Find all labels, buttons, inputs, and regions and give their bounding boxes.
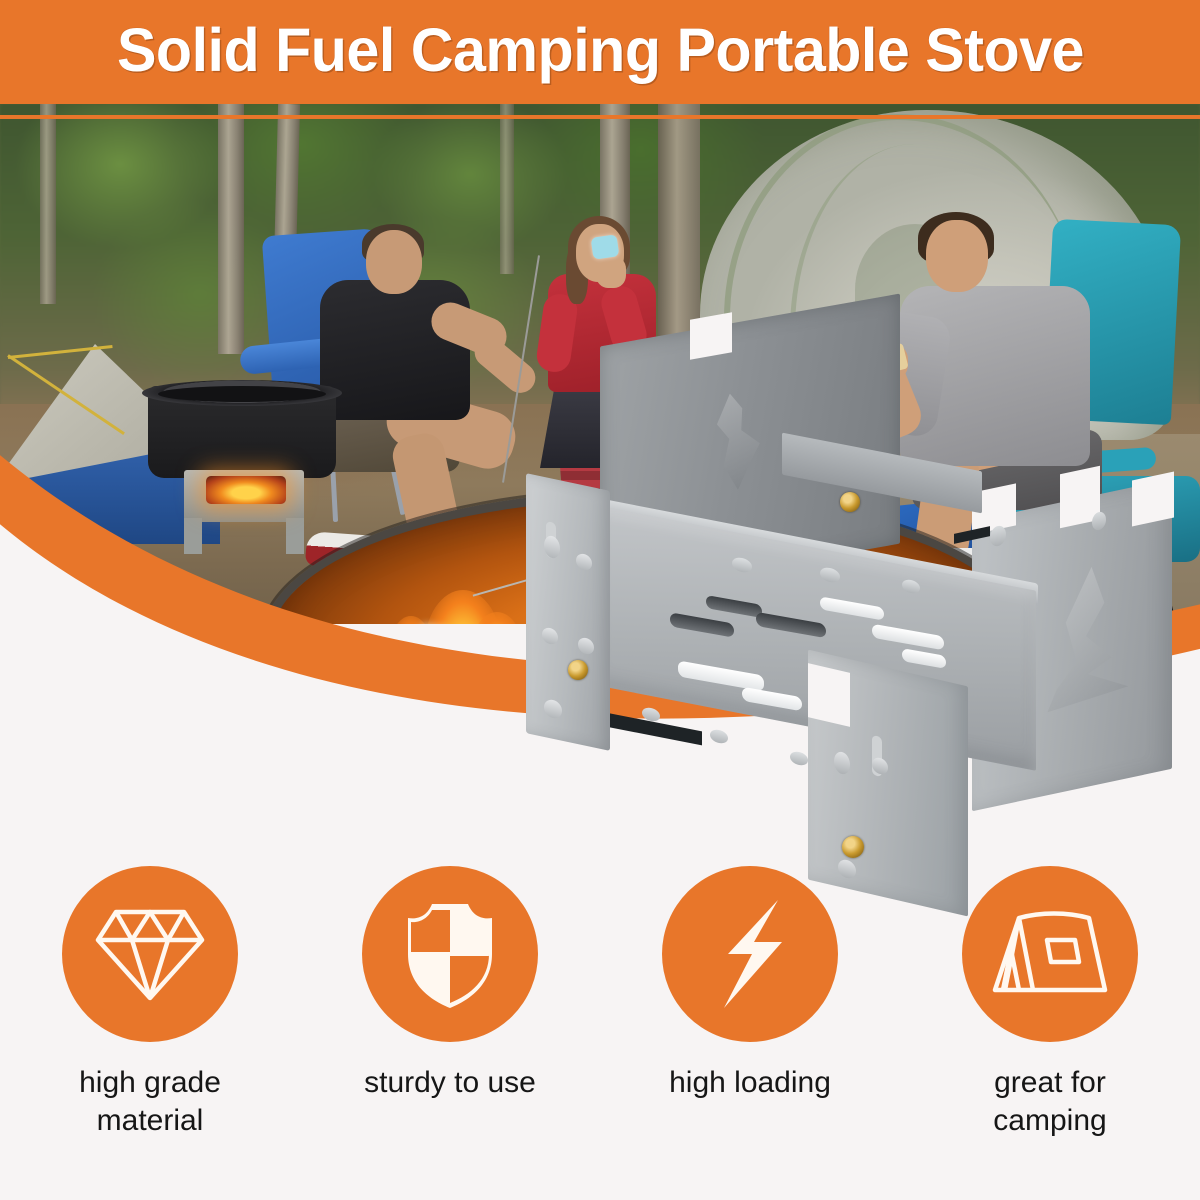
feature-label-line1: high grade	[79, 1066, 221, 1099]
header-banner: Solid Fuel Camping Portable Stove	[0, 0, 1200, 104]
feature-item-great-for-camping: great for camping	[900, 866, 1200, 1200]
feature-label: high grade material	[79, 1064, 221, 1141]
feature-label: great for camping	[993, 1064, 1106, 1141]
feature-label-line2: camping	[993, 1104, 1106, 1137]
stove-front-wall-notch	[808, 663, 850, 727]
stove-rivet-bump	[710, 728, 728, 744]
feature-label-line1: sturdy to use	[364, 1066, 536, 1099]
tree-trunk	[218, 104, 244, 354]
feature-item-high-loading: high loading	[600, 866, 900, 1200]
feature-icon-circle	[62, 866, 238, 1042]
product-stove-image	[520, 300, 1200, 900]
feature-icon-circle	[962, 866, 1138, 1042]
tent-icon	[989, 906, 1111, 1002]
feature-row: high grade material sturdy to use	[0, 866, 1200, 1200]
man-torso	[320, 280, 470, 420]
demo-stove-leg	[286, 518, 304, 554]
stove-left-wing	[526, 473, 610, 751]
burning-fuel-tablet	[206, 476, 286, 504]
stove-back-wall-notch	[690, 312, 732, 359]
feature-label-line1: high loading	[669, 1066, 831, 1099]
feature-item-sturdy-to-use: sturdy to use	[300, 866, 600, 1200]
tree-trunk	[500, 104, 514, 274]
feature-icon-circle	[662, 866, 838, 1042]
demo-stove-leg	[184, 518, 202, 554]
stove-rivet-bump	[790, 750, 808, 766]
feature-item-high-grade-material: high grade material	[0, 866, 300, 1200]
shield-icon	[398, 896, 502, 1012]
page-title: Solid Fuel Camping Portable Stove	[116, 20, 1083, 85]
lightning-icon	[708, 896, 792, 1012]
brass-rivet	[842, 836, 864, 858]
feature-label: sturdy to use	[364, 1064, 536, 1102]
brass-rivet	[568, 660, 588, 680]
cooking-pot-inner	[158, 386, 326, 402]
diamond-icon	[94, 902, 206, 1006]
girl-hand	[596, 256, 626, 288]
tree-trunk	[40, 104, 56, 304]
man-head	[366, 230, 422, 294]
teen-head	[926, 220, 988, 292]
product-infographic: Solid Fuel Camping Portable Stove high g…	[0, 0, 1200, 1200]
header-divider-line	[0, 115, 1200, 119]
marshmallow	[591, 234, 620, 259]
stove-wing-notch	[1132, 472, 1174, 527]
feature-label-line2: material	[97, 1104, 204, 1137]
feature-label-line1: great for	[994, 1066, 1106, 1099]
brass-rivet	[840, 492, 860, 512]
feature-icon-circle	[362, 866, 538, 1042]
feature-label: high loading	[669, 1064, 831, 1102]
